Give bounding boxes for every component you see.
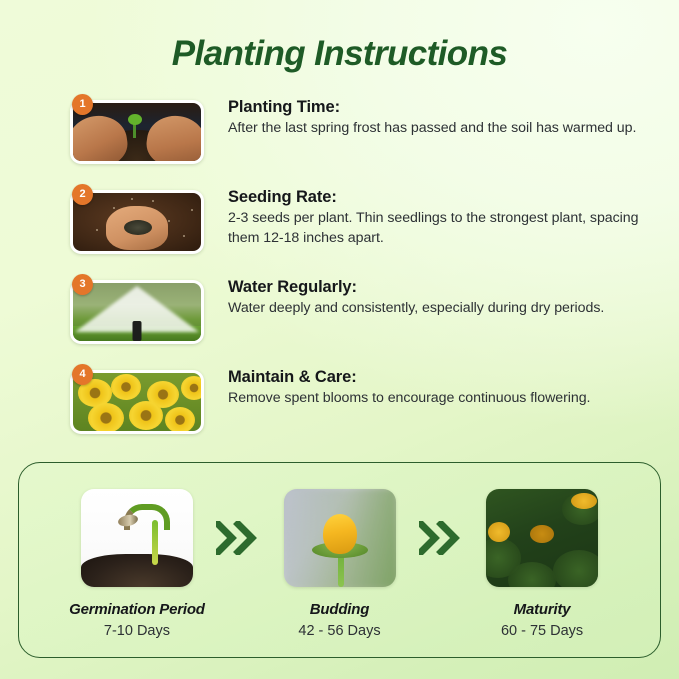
yellow-flowers-blooming-photo bbox=[73, 373, 201, 431]
step-item: 1 Planting Time: After the last spring f… bbox=[0, 96, 679, 186]
step-thumbnail-frame: 3 bbox=[70, 280, 204, 344]
planting-instructions-infographic: Planting Instructions 1 Planting Time: A… bbox=[0, 0, 679, 679]
lawn-sprinkler-spraying-water-photo bbox=[73, 283, 201, 341]
flower-center-shape bbox=[530, 525, 554, 543]
stage-name: Budding bbox=[264, 601, 416, 618]
step-number-badge: 4 bbox=[72, 364, 93, 385]
top-bud-shape bbox=[571, 493, 597, 509]
hands-holding-soil-with-sprout-photo bbox=[73, 103, 201, 161]
step-item: 3 Water Regularly: Water deeply and cons… bbox=[0, 276, 679, 366]
page-title: Planting Instructions bbox=[0, 33, 679, 75]
step-heading: Planting Time: bbox=[228, 96, 658, 118]
timeline-stage-germination: Germination Period 7-10 Days bbox=[61, 489, 213, 639]
seed-pile-shape bbox=[124, 220, 152, 235]
mature-yellow-flower-photo bbox=[486, 489, 598, 587]
left-hand-shape bbox=[73, 112, 130, 161]
bud-head-shape bbox=[323, 514, 357, 554]
step-item: 4 Maintain & Care: Remove spent blooms t… bbox=[0, 366, 679, 456]
stage-separator-1 bbox=[213, 489, 264, 587]
double-chevron-right-icon bbox=[419, 521, 463, 555]
step-thumbnail-frame: 2 bbox=[70, 190, 204, 254]
growth-timeline-card: Germination Period 7-10 Days bbox=[18, 462, 661, 658]
step-body: Water deeply and consistently, especiall… bbox=[228, 299, 658, 319]
sprout-leaf-shape bbox=[128, 114, 142, 125]
step-text-block: Seeding Rate: 2-3 seeds per plant. Thin … bbox=[228, 186, 658, 248]
growth-timeline-row: Germination Period 7-10 Days bbox=[19, 463, 660, 657]
step-number-badge: 1 bbox=[72, 94, 93, 115]
step-heading: Seeding Rate: bbox=[228, 186, 658, 208]
step-number-badge: 2 bbox=[72, 184, 93, 205]
stage-name: Germination Period bbox=[61, 601, 213, 618]
stage-duration: 42 - 56 Days bbox=[264, 623, 416, 639]
step-item: 2 Seeding Rate: 2-3 seeds per plant. Thi… bbox=[0, 186, 679, 276]
step-body: 2-3 seeds per plant. Thin seedlings to t… bbox=[228, 209, 658, 248]
step-heading: Water Regularly: bbox=[228, 276, 658, 298]
step-text-block: Water Regularly: Water deeply and consis… bbox=[228, 276, 658, 319]
timeline-stage-budding: Budding 42 - 56 Days bbox=[264, 489, 416, 639]
soil-shape bbox=[81, 554, 193, 587]
stage-duration: 60 - 75 Days bbox=[466, 623, 618, 639]
step-number-badge: 3 bbox=[72, 274, 93, 295]
step-thumbnail-frame: 4 bbox=[70, 370, 204, 434]
sprouting-seedling-photo bbox=[81, 489, 193, 587]
stage-name: Maturity bbox=[466, 601, 618, 618]
step-text-block: Planting Time: After the last spring fro… bbox=[228, 96, 658, 139]
stage-separator-2 bbox=[415, 489, 466, 587]
timeline-stage-maturity: Maturity 60 - 75 Days bbox=[466, 489, 618, 639]
step-text-block: Maintain & Care: Remove spent blooms to … bbox=[228, 366, 658, 409]
step-thumbnail-frame: 1 bbox=[70, 100, 204, 164]
sprinkler-head-shape bbox=[133, 321, 142, 341]
stage-duration: 7-10 Days bbox=[61, 623, 213, 639]
right-hand-shape bbox=[144, 112, 201, 161]
hand-holding-seeds-over-soil-photo bbox=[73, 193, 201, 251]
steps-list: 1 Planting Time: After the last spring f… bbox=[0, 96, 679, 456]
step-body: Remove spent blooms to encourage continu… bbox=[228, 389, 658, 409]
yellow-flower-bud-photo bbox=[284, 489, 396, 587]
step-heading: Maintain & Care: bbox=[228, 366, 658, 388]
step-body: After the last spring frost has passed a… bbox=[228, 119, 658, 139]
double-chevron-right-icon bbox=[216, 521, 260, 555]
